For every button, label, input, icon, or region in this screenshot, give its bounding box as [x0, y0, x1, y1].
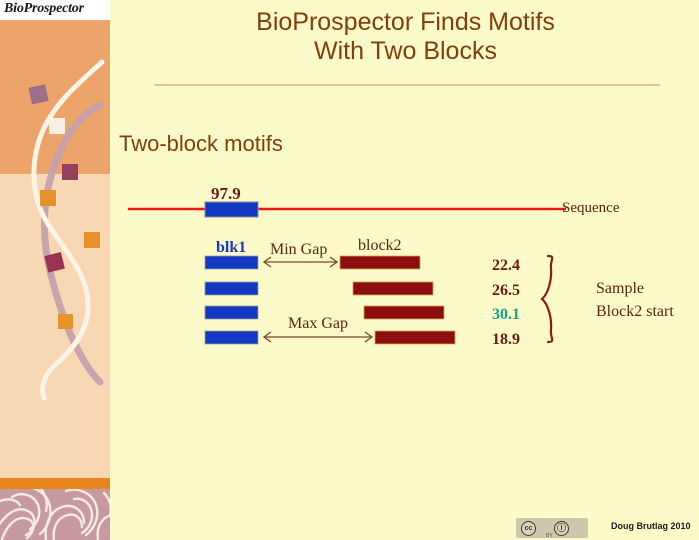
- row4-block1: [205, 331, 258, 344]
- cc-by-label: BY: [546, 533, 553, 539]
- row2-block2: [353, 282, 433, 295]
- sidebar-square-white: [49, 118, 65, 134]
- slide-canvas: BioProspector BioProspector Finds Motifs…: [0, 0, 699, 540]
- sidebar-square-orange-2: [84, 232, 100, 248]
- row3-block2: [364, 306, 444, 319]
- sidebar-helix-graphic: [0, 0, 112, 540]
- sidebar-square-orange-1: [40, 190, 56, 206]
- page-title: BioProspector Finds Motifs With Two Bloc…: [112, 8, 699, 66]
- score-brace: [542, 256, 552, 342]
- row1-block2: [340, 256, 420, 269]
- legend-line-1: Sample: [596, 280, 644, 298]
- decorative-sidebar: BioProspector: [0, 0, 112, 540]
- cc-icon: cc: [521, 521, 536, 536]
- sidebar-square-orange-3: [58, 314, 73, 329]
- sidebar-square-mauve-1: [29, 84, 49, 104]
- sidebar-logo-band: BioProspector: [0, 0, 112, 20]
- row4-score: 18.9: [492, 331, 520, 349]
- creative-commons-badge[interactable]: cc ⓘ BY: [516, 518, 588, 538]
- blk1-label: blk1: [216, 239, 246, 257]
- row1-block1: [205, 256, 258, 269]
- author-credit: Doug Brutlag 2010: [611, 521, 691, 531]
- title-divider: [155, 84, 660, 86]
- max-gap-label: Max Gap: [288, 315, 348, 333]
- section-subhead: Two-block motifs: [119, 131, 283, 157]
- row1-score: 22.4: [492, 257, 520, 275]
- sequence-label: Sequence: [562, 200, 619, 217]
- top-block-score-label: 97.9: [211, 184, 241, 204]
- max-gap-arrow: [264, 332, 372, 342]
- row3-score: 30.1: [492, 306, 520, 324]
- sequence-block1: [205, 202, 258, 217]
- row2-score: 26.5: [492, 282, 520, 300]
- title-line-1: BioProspector Finds Motifs: [112, 8, 699, 37]
- row4-block2: [375, 331, 455, 344]
- sidebar-orange-bar: [0, 478, 112, 489]
- fingerprint-swirls: [0, 489, 112, 540]
- legend-line-2: Block2 start: [596, 303, 674, 321]
- bioprospector-logo: BioProspector: [4, 1, 112, 17]
- row3-block1: [205, 306, 258, 319]
- block2-label: block2: [358, 237, 402, 255]
- title-line-2: With Two Blocks: [112, 37, 699, 66]
- sidebar-square-maroon-1: [62, 164, 78, 180]
- sidebar-fingerprint-pattern: [0, 489, 112, 540]
- cc-by-icon: ⓘ: [554, 521, 569, 536]
- sidebar-right-edge: [110, 0, 112, 540]
- row2-block1: [205, 282, 258, 295]
- min-gap-label: Min Gap: [270, 241, 327, 259]
